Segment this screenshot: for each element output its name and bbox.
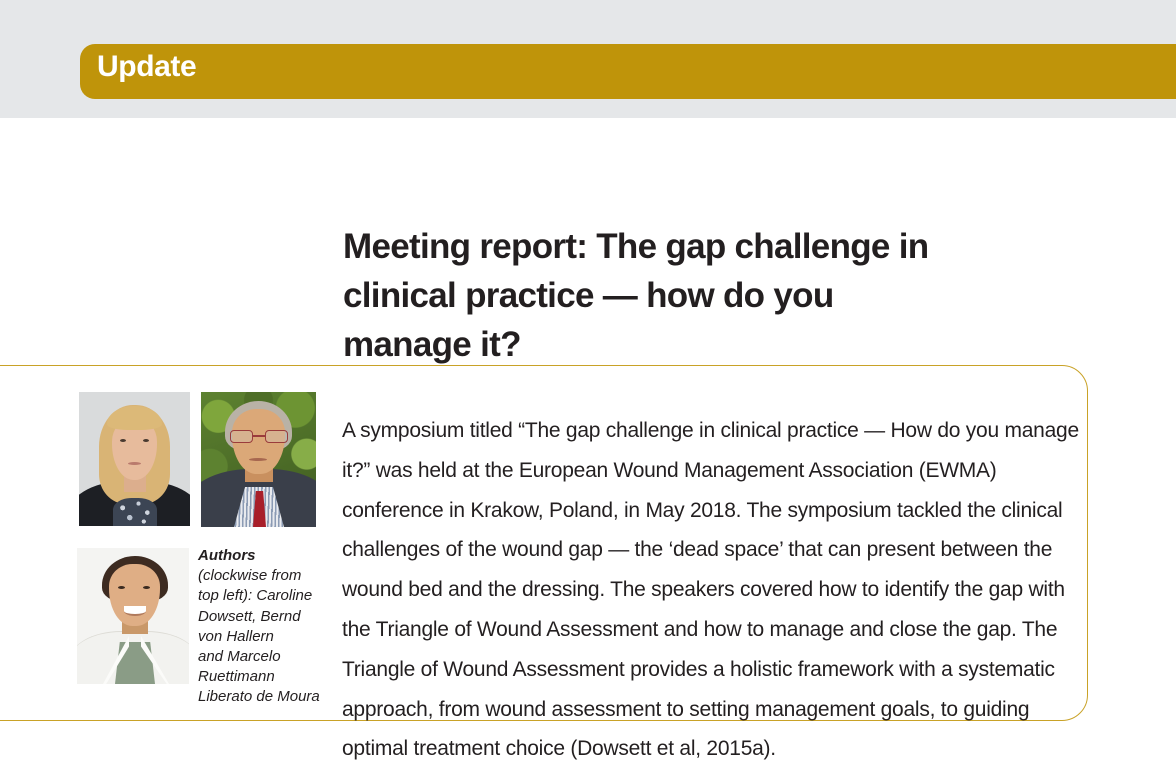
photo-mouth [128,462,141,465]
photo-eye-left [118,586,125,589]
author-caption-body: (clockwise from top left): Caroline Dows… [198,566,324,707]
section-tab-label: Update [97,50,196,84]
glasses-lens-right [265,430,288,443]
photo-eyeglasses [230,430,288,443]
author-photo-caroline-dowsett [79,392,190,526]
author-photo-marcelo-ruettimann-liberato-de-moura [77,548,189,684]
photo-eye-right [143,439,149,442]
glasses-bridge [253,435,265,437]
photo-eye-left [120,439,126,442]
page-header-band: Update [0,0,1176,118]
photo-mouth [249,458,267,461]
author-caption-title: Authors [198,546,324,566]
photo-content [201,392,316,527]
photo-content [77,548,189,684]
author-photo-bernd-von-hallern [201,392,316,527]
glasses-lens-left [230,430,253,443]
photo-eye-right [143,586,150,589]
photo-smile [124,606,146,616]
page-title: Meeting report: The gap challenge in cli… [343,222,1103,369]
author-caption: Authors (clockwise from top left): Carol… [198,546,324,708]
section-tab-update: Update [80,44,1176,99]
photo-content [79,392,190,526]
photo-green-shirt [115,642,155,684]
photo-blouse [113,498,157,526]
intro-paragraph: A symposium titled “The gap challenge in… [342,411,1094,769]
